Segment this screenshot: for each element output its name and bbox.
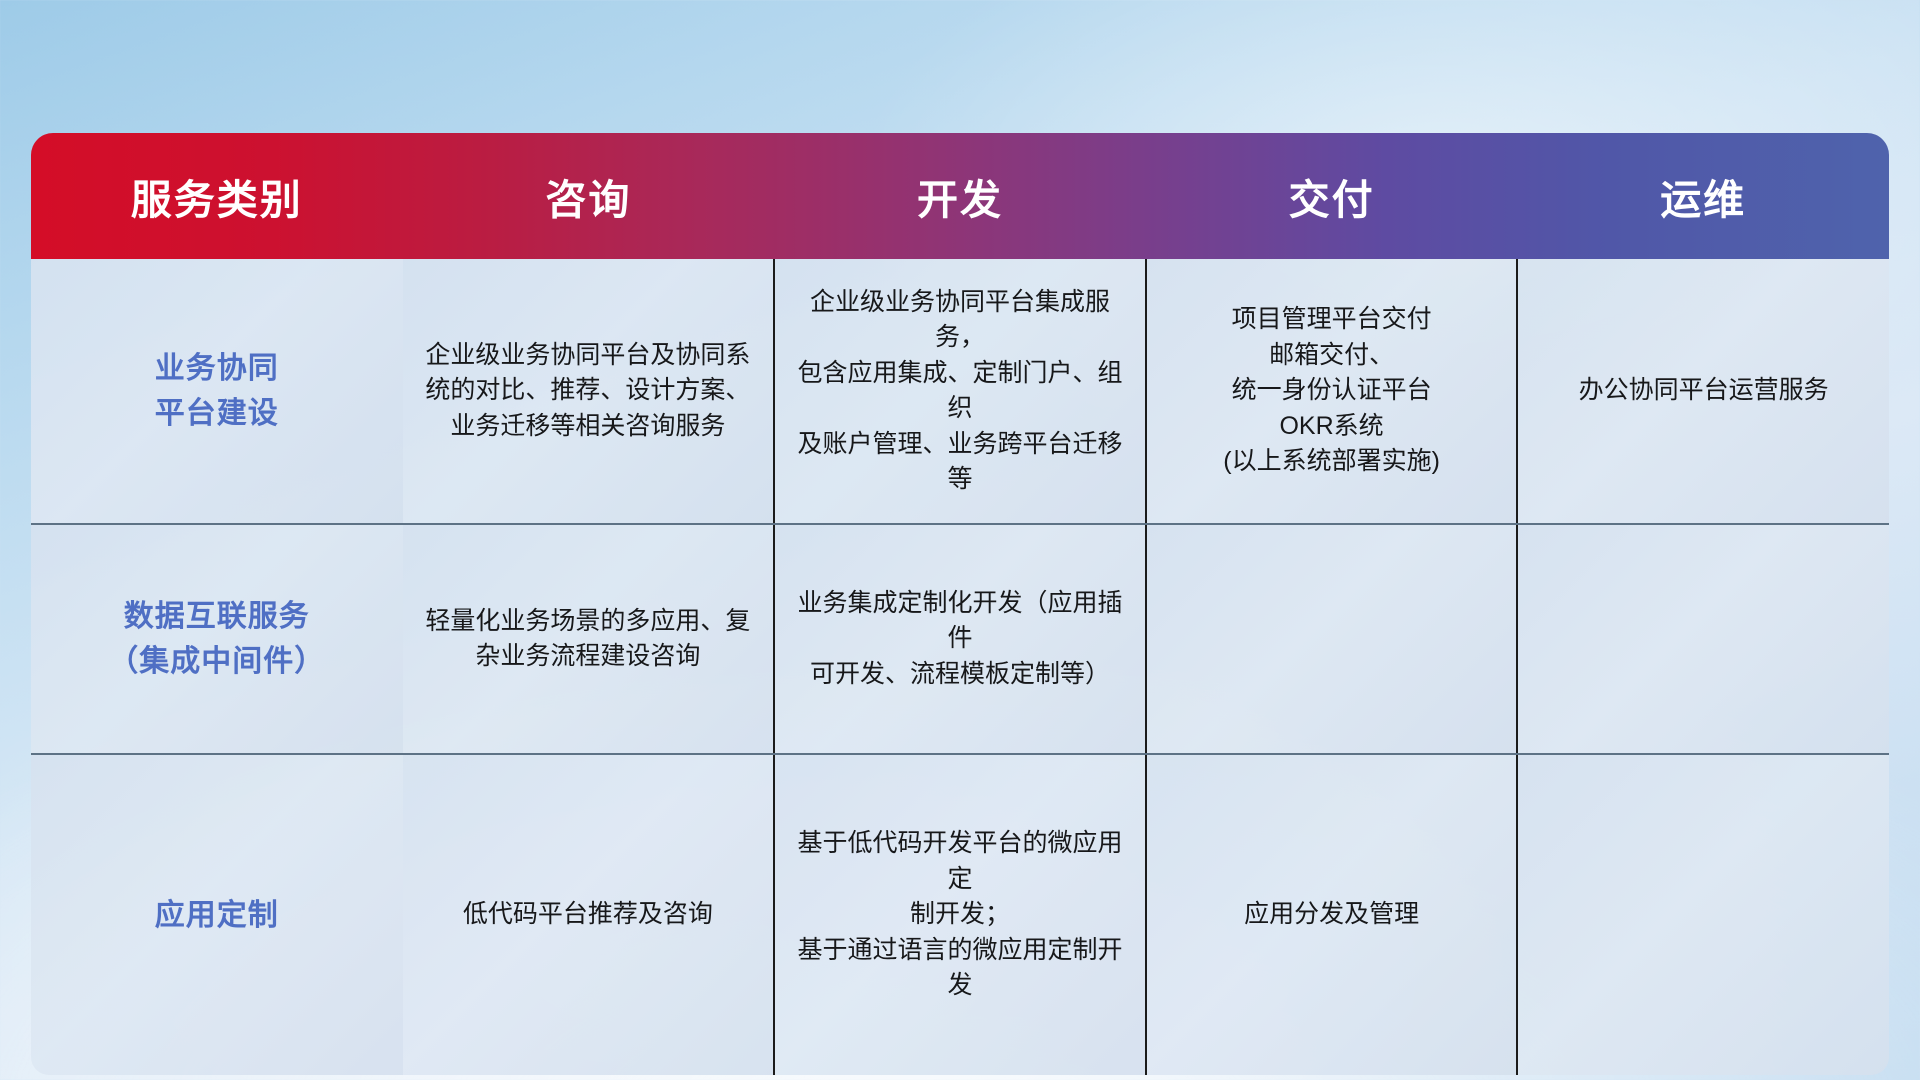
cell-category-row2: 数据互联服务 （集成中间件） bbox=[31, 524, 403, 754]
cell-text: 办公协同平台运营服务 bbox=[1534, 373, 1873, 409]
cell-text: 基于低代码开发平台的微应用定 制开发； 基于通过语言的微应用定制开发 bbox=[791, 826, 1129, 1004]
table-row: 业务协同 平台建设 企业级业务协同平台及协同系 统的对比、推荐、设计方案、 业务… bbox=[31, 259, 1889, 524]
cell-consulting-row3: 低代码平台推荐及咨询 bbox=[403, 754, 775, 1075]
header-cell-delivery: 交付 bbox=[1146, 133, 1518, 259]
cell-development-row2: 业务集成定制化开发（应用插件 可开发、流程模板定制等） bbox=[774, 524, 1146, 754]
cell-text: 业务集成定制化开发（应用插件 可开发、流程模板定制等） bbox=[791, 586, 1129, 693]
header-label-development: 开发 bbox=[774, 166, 1146, 226]
cell-consulting-row2: 轻量化业务场景的多应用、复 杂业务流程建设咨询 bbox=[403, 524, 775, 754]
service-matrix-table: 服务类别 咨询 开发 交付 运维 业务协同 平台建设 bbox=[31, 133, 1889, 1075]
cell-development-row3: 基于低代码开发平台的微应用定 制开发； 基于通过语言的微应用定制开发 bbox=[774, 754, 1146, 1075]
header-cell-category: 服务类别 bbox=[31, 133, 403, 259]
cell-delivery-row3: 应用分发及管理 bbox=[1146, 754, 1518, 1075]
cell-delivery-row1: 项目管理平台交付 邮箱交付、 统一身份认证平台 OKR系统 (以上系统部署实施) bbox=[1146, 259, 1518, 524]
cell-category-row1: 业务协同 平台建设 bbox=[31, 259, 403, 524]
cell-operations-row3 bbox=[1517, 754, 1889, 1075]
service-matrix-container: 服务类别 咨询 开发 交付 运维 业务协同 平台建设 bbox=[31, 133, 1889, 949]
cell-text: 企业级业务协同平台及协同系 统的对比、推荐、设计方案、 业务迁移等相关咨询服务 bbox=[419, 338, 758, 445]
cell-text: 应用分发及管理 bbox=[1163, 897, 1501, 933]
table-body: 业务协同 平台建设 企业级业务协同平台及协同系 统的对比、推荐、设计方案、 业务… bbox=[31, 259, 1889, 1075]
cell-text: 应用定制 bbox=[47, 893, 387, 938]
cell-text: 企业级业务协同平台集成服务， 包含应用集成、定制门户、组织 及账户管理、业务跨平… bbox=[791, 285, 1129, 498]
header-cell-operations: 运维 bbox=[1517, 133, 1889, 259]
table-header: 服务类别 咨询 开发 交付 运维 bbox=[31, 133, 1889, 259]
cell-text: 业务协同 平台建设 bbox=[47, 346, 387, 436]
cell-category-row3: 应用定制 bbox=[31, 754, 403, 1075]
cell-delivery-row2 bbox=[1146, 524, 1518, 754]
cell-text: 低代码平台推荐及咨询 bbox=[419, 897, 758, 933]
cell-text: 项目管理平台交付 邮箱交付、 统一身份认证平台 OKR系统 (以上系统部署实施) bbox=[1163, 302, 1501, 480]
header-cell-development: 开发 bbox=[774, 133, 1146, 259]
cell-text: 数据互联服务 （集成中间件） bbox=[47, 594, 387, 684]
table-row: 数据互联服务 （集成中间件） 轻量化业务场景的多应用、复 杂业务流程建设咨询 业… bbox=[31, 524, 1889, 754]
cell-development-row1: 企业级业务协同平台集成服务， 包含应用集成、定制门户、组织 及账户管理、业务跨平… bbox=[774, 259, 1146, 524]
cell-consulting-row1: 企业级业务协同平台及协同系 统的对比、推荐、设计方案、 业务迁移等相关咨询服务 bbox=[403, 259, 775, 524]
header-label-consulting: 咨询 bbox=[403, 166, 775, 226]
header-row: 服务类别 咨询 开发 交付 运维 bbox=[31, 133, 1889, 259]
cell-operations-row2 bbox=[1517, 524, 1889, 754]
header-label-delivery: 交付 bbox=[1146, 166, 1518, 226]
header-label-operations: 运维 bbox=[1517, 166, 1889, 226]
header-label-category: 服务类别 bbox=[31, 166, 403, 226]
cell-text: 轻量化业务场景的多应用、复 杂业务流程建设咨询 bbox=[419, 604, 758, 675]
header-cell-consulting: 咨询 bbox=[403, 133, 775, 259]
cell-operations-row1: 办公协同平台运营服务 bbox=[1517, 259, 1889, 524]
table-row: 应用定制 低代码平台推荐及咨询 基于低代码开发平台的微应用定 制开发； 基于通过… bbox=[31, 754, 1889, 1075]
